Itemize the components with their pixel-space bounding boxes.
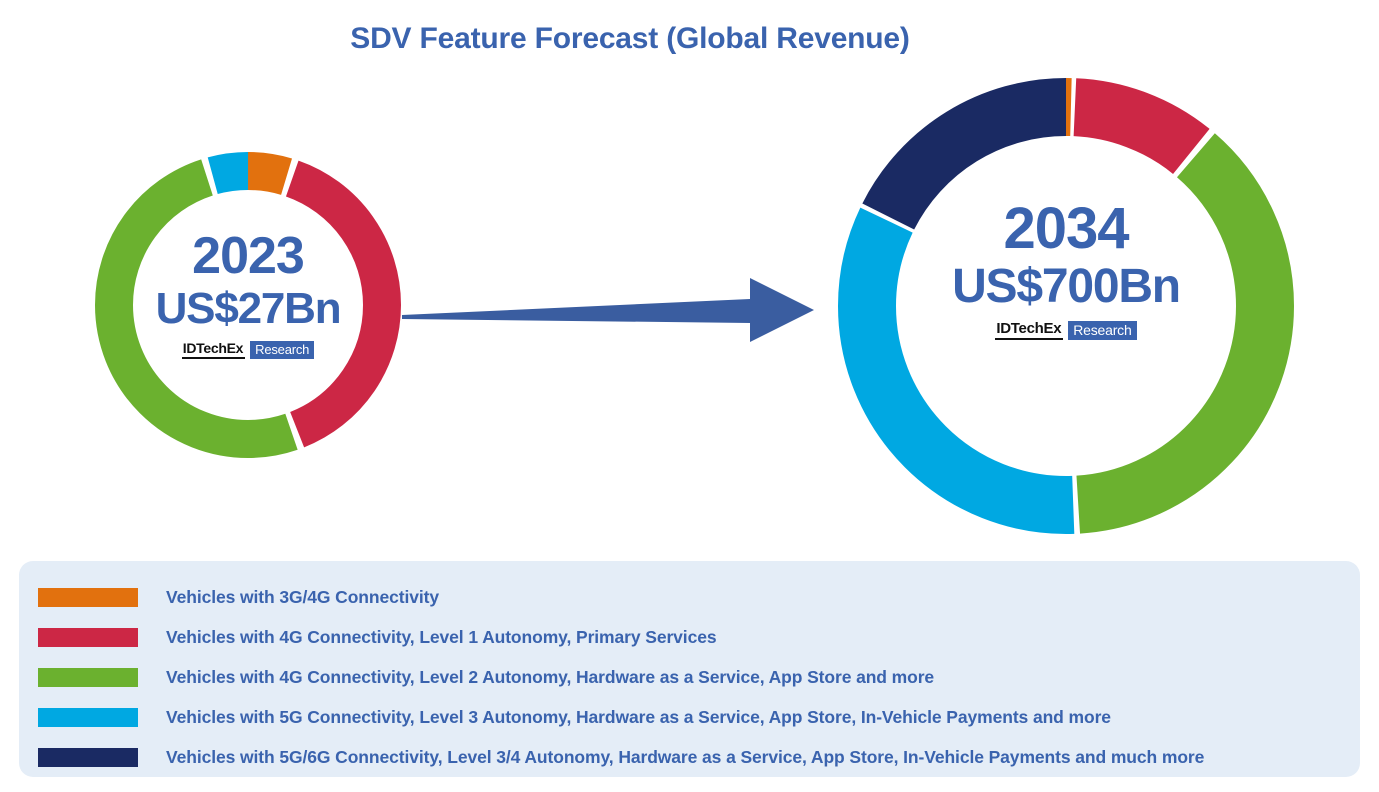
donut-2034-svg (838, 78, 1294, 534)
legend-swatch-red (38, 628, 138, 647)
legend-swatch-cyan (38, 708, 138, 727)
donut-chart-2034: 2034 US$700Bn IDTechEx Research (838, 78, 1294, 534)
page-title: SDV Feature Forecast (Global Revenue) (0, 22, 1260, 56)
legend-swatch-green (38, 668, 138, 687)
legend-item-5g-level3: Vehicles with 5G Connectivity, Level 3 A… (38, 697, 1360, 737)
legend-swatch-navy (38, 748, 138, 767)
arrow-shape (402, 278, 814, 342)
donut-chart-2023: 2023 US$27Bn IDTechEx Research (95, 152, 401, 458)
legend-item-3g4g: Vehicles with 3G/4G Connectivity (38, 577, 1360, 617)
donut-2023-svg (95, 152, 401, 458)
legend-label-4g-level2: Vehicles with 4G Connectivity, Level 2 A… (166, 667, 934, 688)
legend-label-4g-level1: Vehicles with 4G Connectivity, Level 1 A… (166, 627, 716, 648)
right-arrow-svg (398, 272, 818, 348)
legend-panel: Vehicles with 3G/4G Connectivity Vehicle… (19, 561, 1360, 777)
legend-item-4g-level2: Vehicles with 4G Connectivity, Level 2 A… (38, 657, 1360, 697)
right-arrow-icon (398, 272, 818, 348)
legend-swatch-orange (38, 588, 138, 607)
legend-label-5g-level3: Vehicles with 5G Connectivity, Level 3 A… (166, 707, 1111, 728)
legend-item-5g6g-level34: Vehicles with 5G/6G Connectivity, Level … (38, 737, 1360, 777)
legend-item-4g-level1: Vehicles with 4G Connectivity, Level 1 A… (38, 617, 1360, 657)
legend-label-5g6g-level34: Vehicles with 5G/6G Connectivity, Level … (166, 747, 1204, 768)
legend-label-3g4g: Vehicles with 3G/4G Connectivity (166, 587, 439, 608)
